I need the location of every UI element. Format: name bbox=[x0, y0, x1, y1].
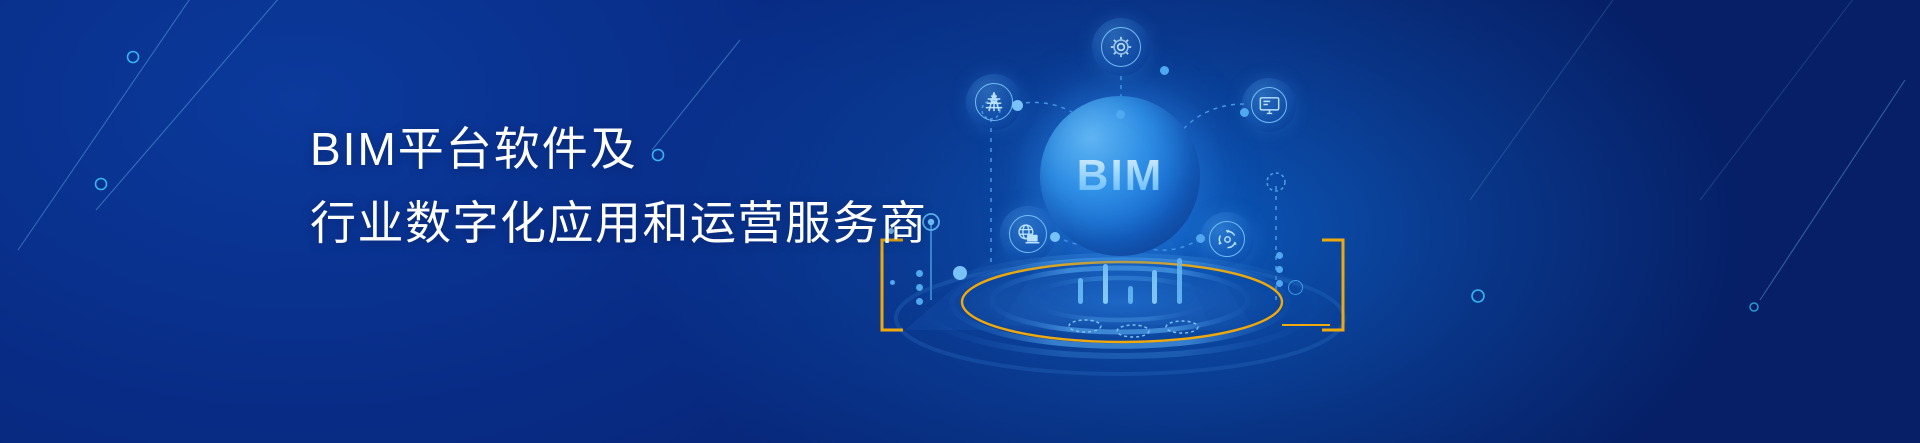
accent-ring-dot bbox=[1288, 280, 1303, 295]
gear-icon[interactable] bbox=[1092, 18, 1150, 76]
accent-dot-stack-r2 bbox=[1276, 266, 1283, 273]
accent-dot-stack-r1 bbox=[1276, 252, 1283, 259]
accent-dot-7 bbox=[953, 266, 967, 280]
bracket-right bbox=[1322, 240, 1343, 330]
accent-dot-2 bbox=[1012, 100, 1023, 111]
accent-dot-4 bbox=[1050, 232, 1060, 242]
accent-dot-5 bbox=[1196, 234, 1205, 243]
accent-dot-stack-r3 bbox=[1276, 280, 1283, 287]
platform-rings bbox=[0, 0, 1920, 443]
monitor-icon[interactable] bbox=[1242, 78, 1296, 132]
accent-dot-6 bbox=[1116, 110, 1125, 119]
bim-sphere-label: BIM bbox=[1077, 151, 1164, 201]
accent-dot-stack-3 bbox=[916, 298, 923, 305]
globe-laptop-icon[interactable] bbox=[1000, 206, 1056, 262]
hero-banner: BIM平台软件及 行业数字化应用和运营服务商 bbox=[0, 0, 1920, 443]
accent-dot-1 bbox=[1160, 66, 1169, 75]
accent-dot-stack-1 bbox=[916, 270, 923, 277]
bim-sphere: BIM bbox=[1040, 96, 1200, 256]
accent-dot-3 bbox=[1240, 108, 1249, 117]
page-title: BIM平台软件及 行业数字化应用和运营服务商 bbox=[310, 112, 928, 260]
accent-dot-8 bbox=[890, 280, 895, 285]
network-icon[interactable] bbox=[1200, 212, 1254, 266]
headline-line-1: BIM平台软件及 bbox=[310, 112, 928, 186]
headline-line-2: 行业数字化应用和运营服务商 bbox=[310, 186, 928, 260]
accent-dot-stack-2 bbox=[916, 284, 923, 291]
